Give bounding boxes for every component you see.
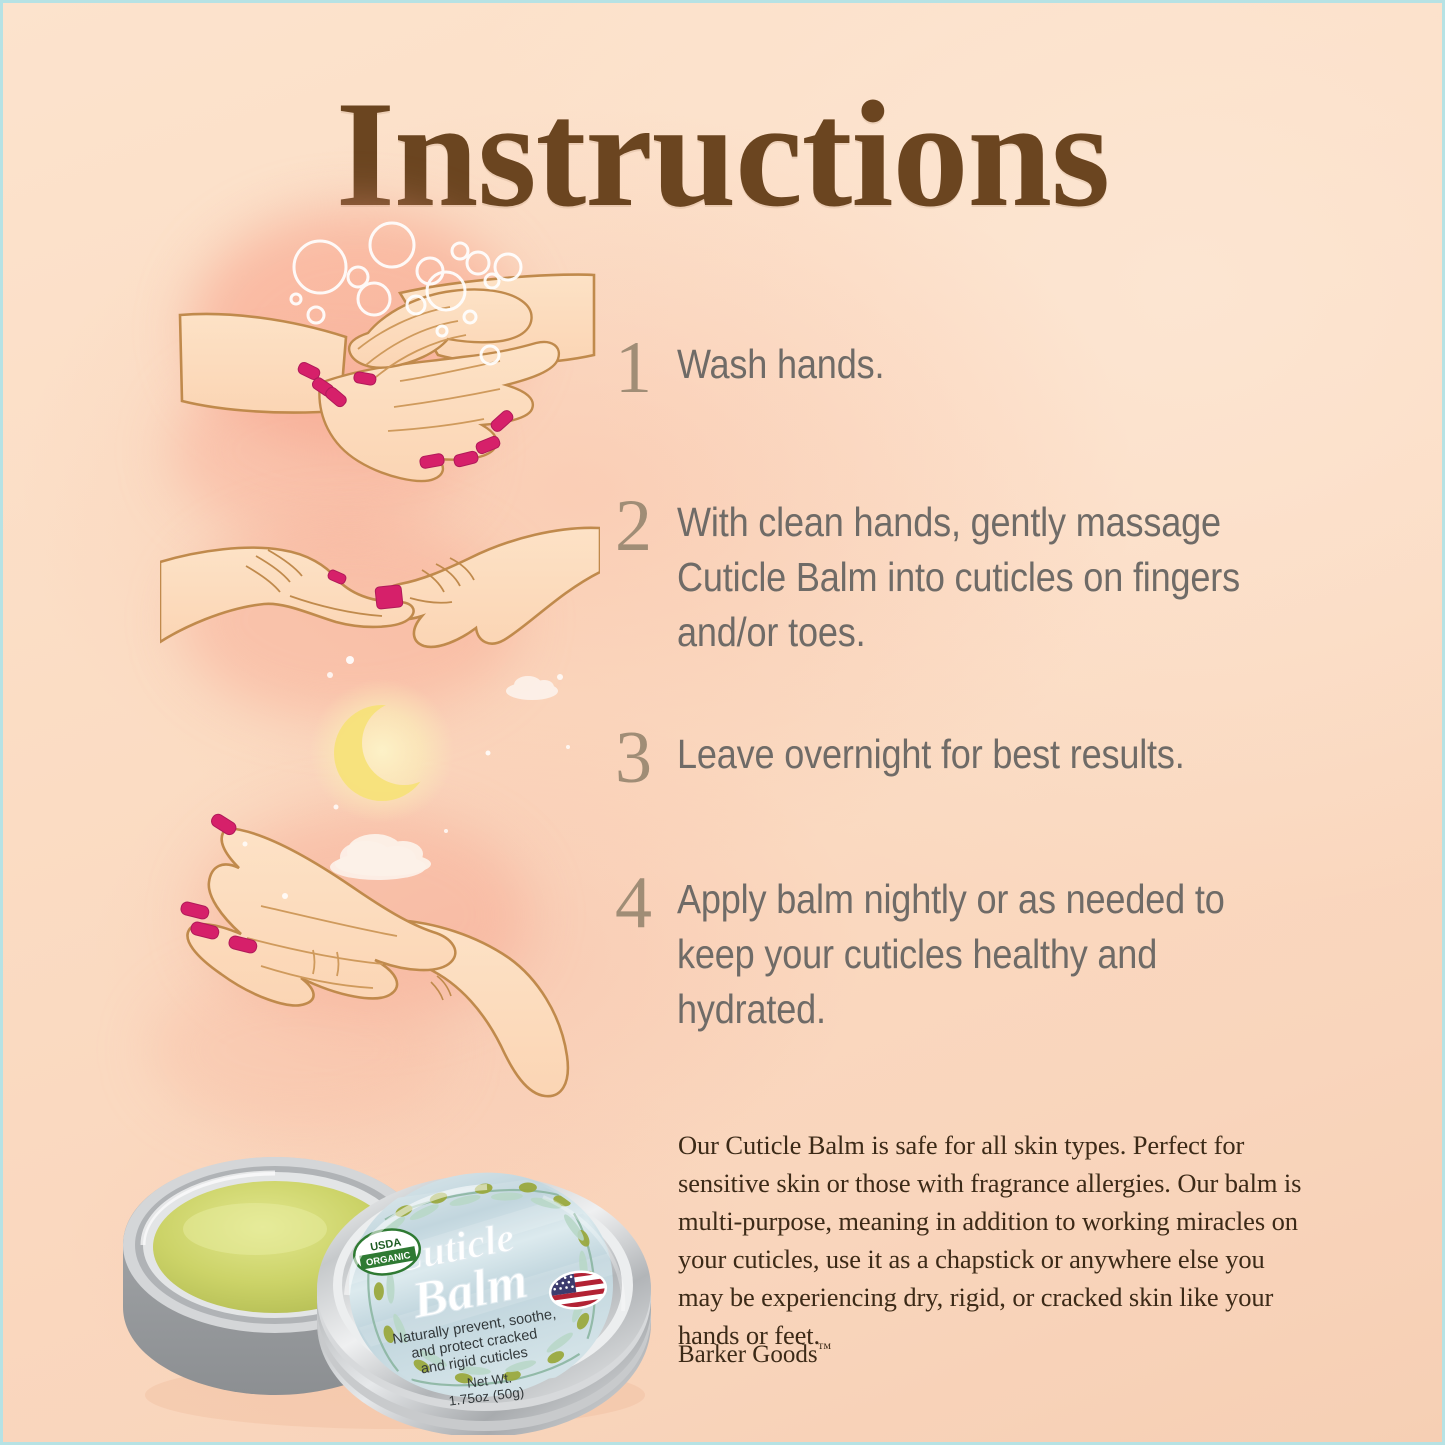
product-description: Our Cuticle Balm is safe for all skin ty…	[678, 1126, 1308, 1354]
brand-label: Barker Goods	[678, 1341, 818, 1368]
illustration-column	[150, 210, 620, 1110]
step-number: 3	[615, 727, 677, 789]
resting-hand-illustration	[165, 800, 595, 1100]
step-number: 1	[615, 337, 677, 399]
step-text: Wash hands.	[677, 337, 1203, 392]
step-item: 3 Leave overnight for best results.	[615, 727, 1315, 789]
page-title: Instructions	[0, 78, 1445, 230]
brand-name: Barker Goods™	[678, 1341, 831, 1369]
step-text: Apply balm nightly or as needed to keep …	[677, 872, 1256, 1037]
step-item: 2 With clean hands, gently massage Cutic…	[615, 495, 1335, 660]
washing-hands-illustration	[170, 215, 600, 525]
step-number: 2	[615, 495, 677, 557]
step-number: 4	[615, 872, 677, 934]
step-text: With clean hands, gently massage Cuticle…	[677, 495, 1256, 660]
step-item: 1 Wash hands.	[615, 337, 1275, 399]
product-tin: Cuticle Balm Naturally prevent, soothe, …	[95, 1095, 695, 1435]
step-item: 4 Apply balm nightly or as needed to kee…	[615, 872, 1335, 1037]
step-text: Leave overnight for best results.	[677, 727, 1238, 782]
trademark-symbol: ™	[818, 1342, 832, 1357]
instructions-poster: Instructions	[0, 0, 1445, 1445]
